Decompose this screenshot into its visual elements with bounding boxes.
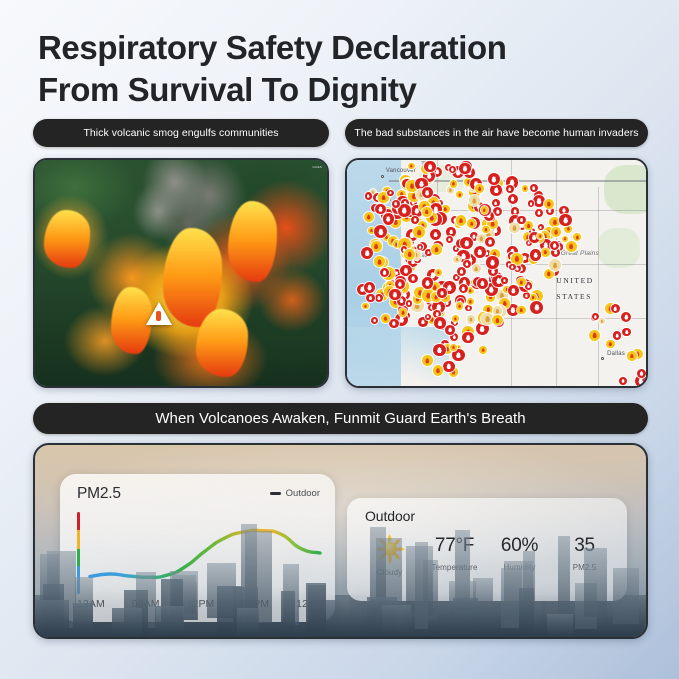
- flame-lick: [44, 210, 91, 269]
- fire-marker: [383, 213, 394, 224]
- fire-map-illustration: Vancouver lumbia ncisco Great Plains UNI…: [347, 160, 646, 386]
- fire-marker: [446, 236, 453, 243]
- fire-marker: [562, 236, 568, 242]
- fire-marker: [530, 184, 538, 192]
- fire-marker: [392, 200, 400, 208]
- wildfire-image-card: GOES: [33, 158, 329, 388]
- fire-marker: [411, 216, 419, 224]
- fire-marker: [472, 264, 481, 273]
- fire-marker: [460, 237, 473, 250]
- fire-marker: [482, 226, 489, 233]
- fire-marker: [475, 184, 484, 193]
- fire-marker: [485, 237, 495, 247]
- fire-marker: [544, 199, 554, 209]
- map-label-states: STATES: [556, 292, 592, 301]
- legend-label-outdoor: Outdoor: [286, 488, 320, 499]
- fire-marker: [425, 314, 431, 320]
- fire-marker: [486, 256, 498, 268]
- map-label-dallas: Dallas: [607, 351, 625, 357]
- fire-marker: [433, 344, 445, 356]
- fire-marker: [621, 312, 631, 322]
- fire-marker: [443, 361, 455, 373]
- fire-marker: [456, 215, 466, 225]
- fire-marker: [389, 289, 401, 301]
- fire-marker: [477, 278, 488, 289]
- fire-marker: [456, 302, 463, 309]
- fire-marker: [538, 224, 544, 230]
- fire-marker: [481, 206, 488, 213]
- fire-marker: [492, 315, 502, 325]
- fire-marker: [434, 317, 446, 329]
- building: [73, 603, 93, 637]
- building: [308, 585, 326, 637]
- fire-marker: [530, 249, 541, 260]
- chart-legend: Outdoor: [270, 488, 320, 499]
- fire-marker: [362, 303, 368, 309]
- fire-marker: [435, 269, 441, 275]
- wildfire-illustration: GOES: [35, 160, 327, 386]
- fire-marker: [551, 227, 561, 237]
- fire-marker: [508, 285, 519, 296]
- fire-marker: [450, 344, 457, 351]
- fire-marker: [430, 229, 441, 240]
- fire-marker: [622, 328, 631, 337]
- warning-triangle-icon: [146, 302, 172, 325]
- fire-marker: [549, 259, 561, 271]
- page-title-line-2: From Survival To Dignity: [38, 69, 638, 111]
- fire-marker: [529, 294, 536, 301]
- fire-marker: [422, 355, 433, 366]
- fire-marker: [509, 264, 516, 271]
- fire-marker: [457, 267, 466, 276]
- fire-marker: [408, 274, 417, 283]
- fire-marker: [530, 301, 543, 314]
- map-label-great-plains: Great Plains: [561, 250, 599, 257]
- fire-marker: [517, 306, 526, 315]
- fire-marker: [366, 294, 375, 303]
- caption-pill-right-label: The bad substances in the air have becom…: [354, 127, 638, 139]
- fire-marker: [535, 209, 543, 217]
- fire-marker: [422, 187, 433, 198]
- building: [558, 536, 570, 621]
- fire-marker: [456, 191, 463, 198]
- caption-pill-left-label: Thick volcanic smog engulfs communities: [83, 127, 278, 139]
- building: [382, 605, 411, 637]
- fire-marker: [459, 163, 471, 175]
- fire-marker: [517, 216, 525, 224]
- fire-marker: [522, 185, 528, 191]
- caption-pill-wide: When Volcanoes Awaken, Funmit Guard Eart…: [33, 403, 648, 434]
- fire-marker: [465, 305, 472, 312]
- fire-marker: [395, 279, 405, 289]
- fire-marker: [611, 304, 620, 313]
- building: [36, 600, 69, 637]
- map-label-united: UNITED: [556, 276, 594, 285]
- building: [155, 606, 184, 637]
- fire-marker: [387, 190, 393, 196]
- fire-marker: [559, 214, 572, 227]
- fire-marker: [467, 298, 474, 305]
- caption-pill-wide-label: When Volcanoes Awaken, Funmit Guard Eart…: [155, 410, 525, 427]
- chart-title: PM2.5: [77, 485, 121, 503]
- fire-marker: [404, 249, 415, 260]
- building: [613, 568, 639, 624]
- page-title: Respiratory Safety Declaration From Surv…: [38, 27, 638, 110]
- fire-marker: [453, 256, 460, 263]
- fire-marker: [506, 185, 514, 193]
- map-watermark: GOES: [313, 165, 322, 169]
- fire-marker: [479, 346, 487, 354]
- fire-marker: [364, 212, 374, 222]
- fire-marker: [492, 199, 500, 207]
- vegetation-patch: [598, 228, 640, 269]
- fire-marker: [408, 163, 414, 169]
- page-title-line-1: Respiratory Safety Declaration: [38, 29, 507, 66]
- fire-marker: [371, 317, 378, 324]
- fire-marker: [528, 200, 535, 207]
- fire-marker: [413, 226, 425, 238]
- fire-marker: [433, 365, 443, 375]
- fire-marker: [406, 300, 413, 307]
- vegetation-patch: [604, 165, 648, 215]
- fire-marker: [508, 194, 518, 204]
- dashboard-panel: PM2.5 Outdoor 12AM: [33, 443, 648, 639]
- fire-marker: [431, 244, 442, 255]
- flame-lick: [228, 201, 278, 282]
- city-marker: [381, 175, 384, 178]
- fire-marker: [517, 278, 525, 286]
- fire-marker: [509, 223, 520, 234]
- city-marker: [601, 357, 604, 360]
- fire-marker: [467, 315, 475, 323]
- fire-marker: [445, 325, 455, 335]
- pacific-ocean-south: [347, 327, 449, 386]
- building: [415, 542, 428, 629]
- fire-marker: [365, 192, 372, 199]
- fire-marker: [573, 233, 581, 241]
- fire-marker: [398, 204, 411, 217]
- building: [112, 608, 142, 637]
- fire-marker: [389, 319, 399, 329]
- building: [519, 588, 534, 637]
- fire-marker: [541, 248, 550, 257]
- fire-marker: [627, 351, 636, 360]
- metric-value: 60%: [487, 536, 552, 557]
- fire-marker: [501, 277, 507, 283]
- fire-marker: [606, 340, 615, 349]
- caption-pill-left: Thick volcanic smog engulfs communities: [33, 119, 329, 147]
- fire-marker: [450, 180, 458, 188]
- fire-map-card: Vancouver lumbia ncisco Great Plains UNI…: [345, 158, 648, 388]
- fire-marker: [511, 253, 523, 265]
- fire-marker: [422, 207, 432, 217]
- legend-swatch-outdoor: [270, 492, 281, 495]
- flame-lick: [196, 309, 249, 377]
- fire-marker: [381, 314, 390, 323]
- fire-marker: [613, 331, 621, 339]
- fire-marker: [566, 241, 577, 252]
- outdoor-card-title: Outdoor: [365, 508, 415, 524]
- fire-marker: [437, 288, 446, 297]
- state-border: [598, 187, 599, 386]
- caption-pill-right: The bad substances in the air have becom…: [345, 119, 648, 147]
- building: [547, 614, 573, 637]
- building: [237, 608, 258, 637]
- fire-marker: [452, 349, 464, 361]
- fire-marker: [467, 219, 476, 228]
- fire-marker: [619, 377, 627, 385]
- building: [281, 591, 295, 637]
- fire-marker: [599, 318, 605, 324]
- fire-marker: [525, 282, 533, 290]
- building: [453, 598, 478, 637]
- fire-marker: [462, 332, 474, 344]
- building: [584, 548, 608, 618]
- fire-marker: [452, 315, 459, 322]
